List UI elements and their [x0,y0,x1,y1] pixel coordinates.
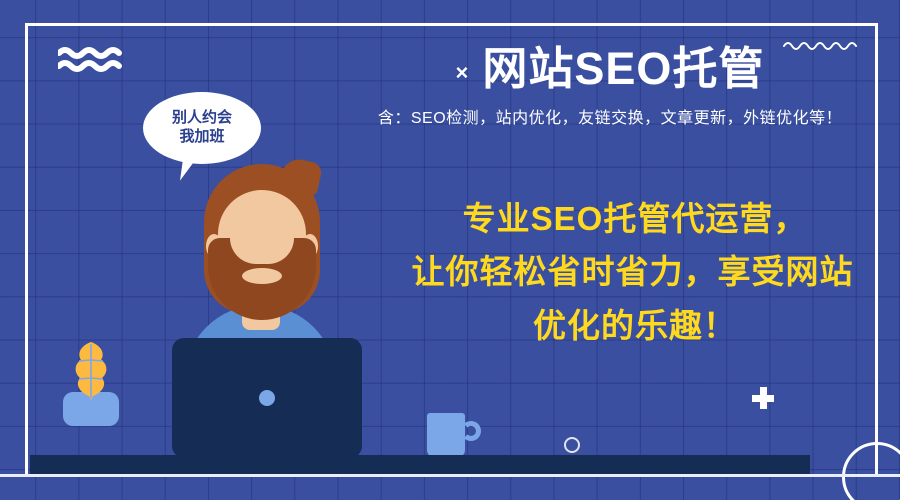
desk-edge-line [0,474,900,477]
slogan-line-1: 专业SEO托管代运营， [380,192,890,245]
slogan-line-3: 优化的乐趣！ [380,299,890,352]
title-cross-icon: × [456,62,469,84]
seo-hosting-banner: × 网站SEO托管 含：SEO检测，站内优化，友链交换，文章更新，外链优化等！ … [0,0,900,500]
coffee-mug [427,413,465,457]
headline-row: × 网站SEO托管 [330,44,890,94]
speech-bubble-line-2: 我加班 [172,128,232,147]
plus-icon [752,387,774,409]
person-mouth [242,268,282,284]
headline-block: × 网站SEO托管 含：SEO检测，站内优化，友链交换，文章更新，外链优化等！ [330,44,890,128]
speech-bubble: 别人约会 我加班 [143,92,261,164]
slogan-block: 专业SEO托管代运营， 让你轻松省时省力，享受网站 优化的乐趣！ [380,192,890,352]
speech-bubble-line-1: 别人约会 [172,109,232,128]
circle-outline-icon [564,437,580,453]
desk-surface [30,455,810,474]
plant-leaf-icon [60,340,122,402]
wavy-lines-icon [58,46,128,72]
frame-top-border [25,23,878,26]
speech-bubble-text: 别人约会 我加班 [172,109,232,147]
slogan-line-2: 让你轻松省时省力，享受网站 [375,245,890,298]
page-title: 网站SEO托管 [482,44,764,94]
subtitle-text: 含：SEO检测，站内优化，友链交换，文章更新，外链优化等！ [330,104,890,128]
laptop-logo-dot [259,390,275,406]
frame-left-border [25,23,28,477]
